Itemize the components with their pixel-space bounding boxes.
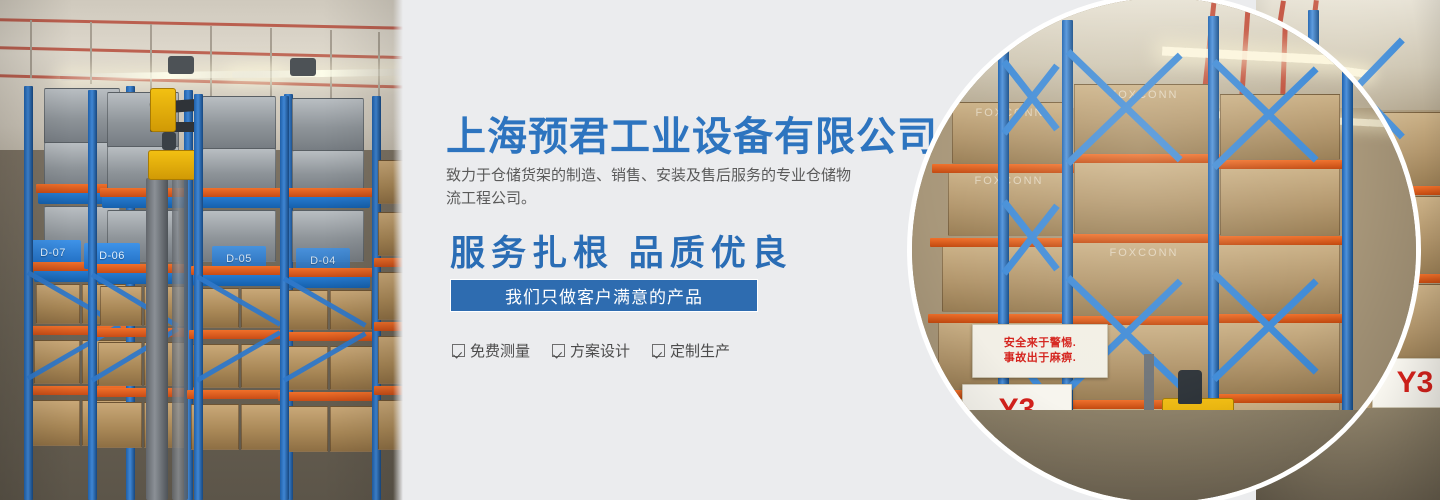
check-box-icon (652, 344, 665, 357)
right-photo-circle: FOXCONN FOXCONN FOXCONN FOXCONN (912, 0, 1416, 500)
check-box-icon (552, 344, 565, 357)
banner-text-block: 上海预君工业设备有限公司 致力于仓储货架的制造、销售、安装及售后服务的专业仓储物… (446, 0, 916, 500)
promo-banner: D-07 (0, 0, 1440, 500)
check-box-icon (452, 344, 465, 357)
feature-label: 方案设计 (570, 340, 630, 361)
feature-item: 免费测量 (452, 340, 530, 361)
company-subtitle: 致力于仓储货架的制造、销售、安装及售后服务的专业仓储物流工程公司。 (446, 164, 864, 210)
right-warehouse-photo-wrap: Y3 FOXCONN FOXCONN (907, 0, 1440, 500)
feature-label: 定制生产 (670, 340, 730, 361)
left-warehouse-photo: D-07 (0, 0, 403, 500)
cta-button[interactable]: 我们只做客户满意的产品 (450, 279, 758, 312)
feature-label: 免费测量 (470, 340, 530, 361)
feature-list: 免费测量 方案设计 定制生产 (452, 340, 730, 361)
feature-item: 方案设计 (552, 340, 630, 361)
company-title: 上海预君工业设备有限公司 (446, 104, 938, 162)
cta-label: 我们只做客户满意的产品 (505, 283, 703, 308)
company-slogan: 服务扎根 品质优良 (450, 225, 793, 276)
feature-item: 定制生产 (652, 340, 730, 361)
